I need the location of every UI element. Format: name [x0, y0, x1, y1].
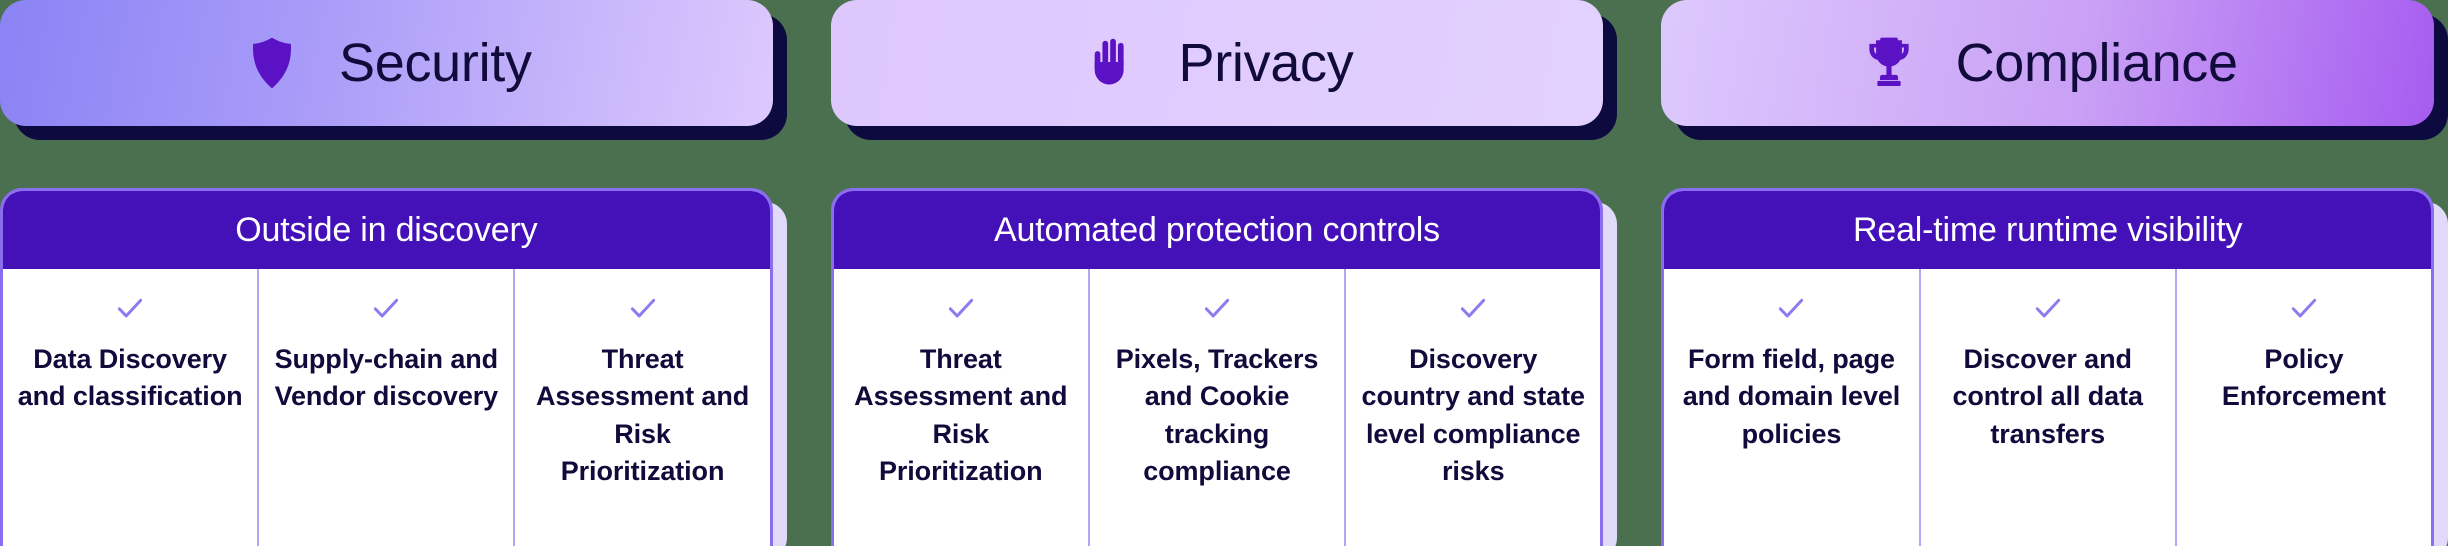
capability-matrix: Security Privacy: [0, 0, 2448, 546]
panel-surface: Automated protection controls Threat Ass…: [831, 188, 1604, 546]
check-icon: [626, 291, 660, 325]
shield-icon: [241, 32, 303, 94]
row-spacer: [0, 140, 2448, 188]
capability-label: Threat Assessment and Risk Prioritizatio…: [529, 341, 755, 490]
check-icon: [1200, 291, 1234, 325]
category-pill-compliance[interactable]: Compliance: [1661, 0, 2448, 140]
panel-heading: Automated protection controls: [994, 211, 1440, 250]
raised-hand-icon: [1081, 32, 1143, 94]
pill-surface[interactable]: Compliance: [1661, 0, 2434, 126]
panel-body: Form field, page and domain level polici…: [1664, 269, 2431, 546]
pill-surface[interactable]: Privacy: [831, 0, 1604, 126]
trophy-icon: [1858, 32, 1920, 94]
panel-header: Outside in discovery: [3, 191, 770, 269]
capability-cell[interactable]: Form field, page and domain level polici…: [1664, 269, 1918, 546]
check-icon: [2031, 291, 2065, 325]
check-icon: [2287, 291, 2321, 325]
capability-cell[interactable]: Discovery country and state level compli…: [1344, 269, 1600, 546]
capability-label: Form field, page and domain level polici…: [1678, 341, 1904, 453]
check-icon: [113, 291, 147, 325]
panel-heading: Outside in discovery: [235, 211, 537, 250]
capability-panel-compliance: Real-time runtime visibility Form field,…: [1661, 188, 2448, 546]
capability-label: Supply-chain and Vendor discovery: [273, 341, 499, 416]
pill-surface[interactable]: Security: [0, 0, 773, 126]
capability-label: Discover and control all data transfers: [1935, 341, 2161, 453]
category-pill-row: Security Privacy: [0, 0, 2448, 140]
capability-label: Policy Enforcement: [2191, 341, 2417, 416]
check-icon: [1774, 291, 1808, 325]
capability-cell[interactable]: Policy Enforcement: [2175, 269, 2431, 546]
panel-heading: Real-time runtime visibility: [1853, 211, 2242, 250]
capability-label: Threat Assessment and Risk Prioritizatio…: [848, 341, 1074, 490]
capability-cell[interactable]: Supply-chain and Vendor discovery: [257, 269, 513, 546]
pill-title: Privacy: [1179, 32, 1354, 94]
category-pill-security[interactable]: Security: [0, 0, 787, 140]
capability-label: Discovery country and state level compli…: [1360, 341, 1586, 490]
capability-panel-security: Outside in discovery Data Discovery and …: [0, 188, 787, 546]
check-icon: [1456, 291, 1490, 325]
capability-cell[interactable]: Threat Assessment and Risk Prioritizatio…: [513, 269, 769, 546]
panel-surface: Outside in discovery Data Discovery and …: [0, 188, 773, 546]
panel-body: Threat Assessment and Risk Prioritizatio…: [834, 269, 1601, 546]
capability-panel-privacy: Automated protection controls Threat Ass…: [831, 188, 1618, 546]
panel-header: Automated protection controls: [834, 191, 1601, 269]
check-icon: [369, 291, 403, 325]
category-pill-privacy[interactable]: Privacy: [831, 0, 1618, 140]
capability-cell[interactable]: Discover and control all data transfers: [1919, 269, 2175, 546]
capability-label: Data Discovery and classification: [17, 341, 243, 416]
capability-label: Pixels, Trackers and Cookie tracking com…: [1104, 341, 1330, 490]
capability-cell[interactable]: Pixels, Trackers and Cookie tracking com…: [1088, 269, 1344, 546]
pill-title: Compliance: [1956, 32, 2238, 94]
panel-body: Data Discovery and classification Supply…: [3, 269, 770, 546]
panel-header: Real-time runtime visibility: [1664, 191, 2431, 269]
capability-cell[interactable]: Data Discovery and classification: [3, 269, 257, 546]
capability-panel-row: Outside in discovery Data Discovery and …: [0, 188, 2448, 546]
check-icon: [944, 291, 978, 325]
pill-title: Security: [339, 32, 532, 94]
panel-surface: Real-time runtime visibility Form field,…: [1661, 188, 2434, 546]
capability-cell[interactable]: Threat Assessment and Risk Prioritizatio…: [834, 269, 1088, 546]
